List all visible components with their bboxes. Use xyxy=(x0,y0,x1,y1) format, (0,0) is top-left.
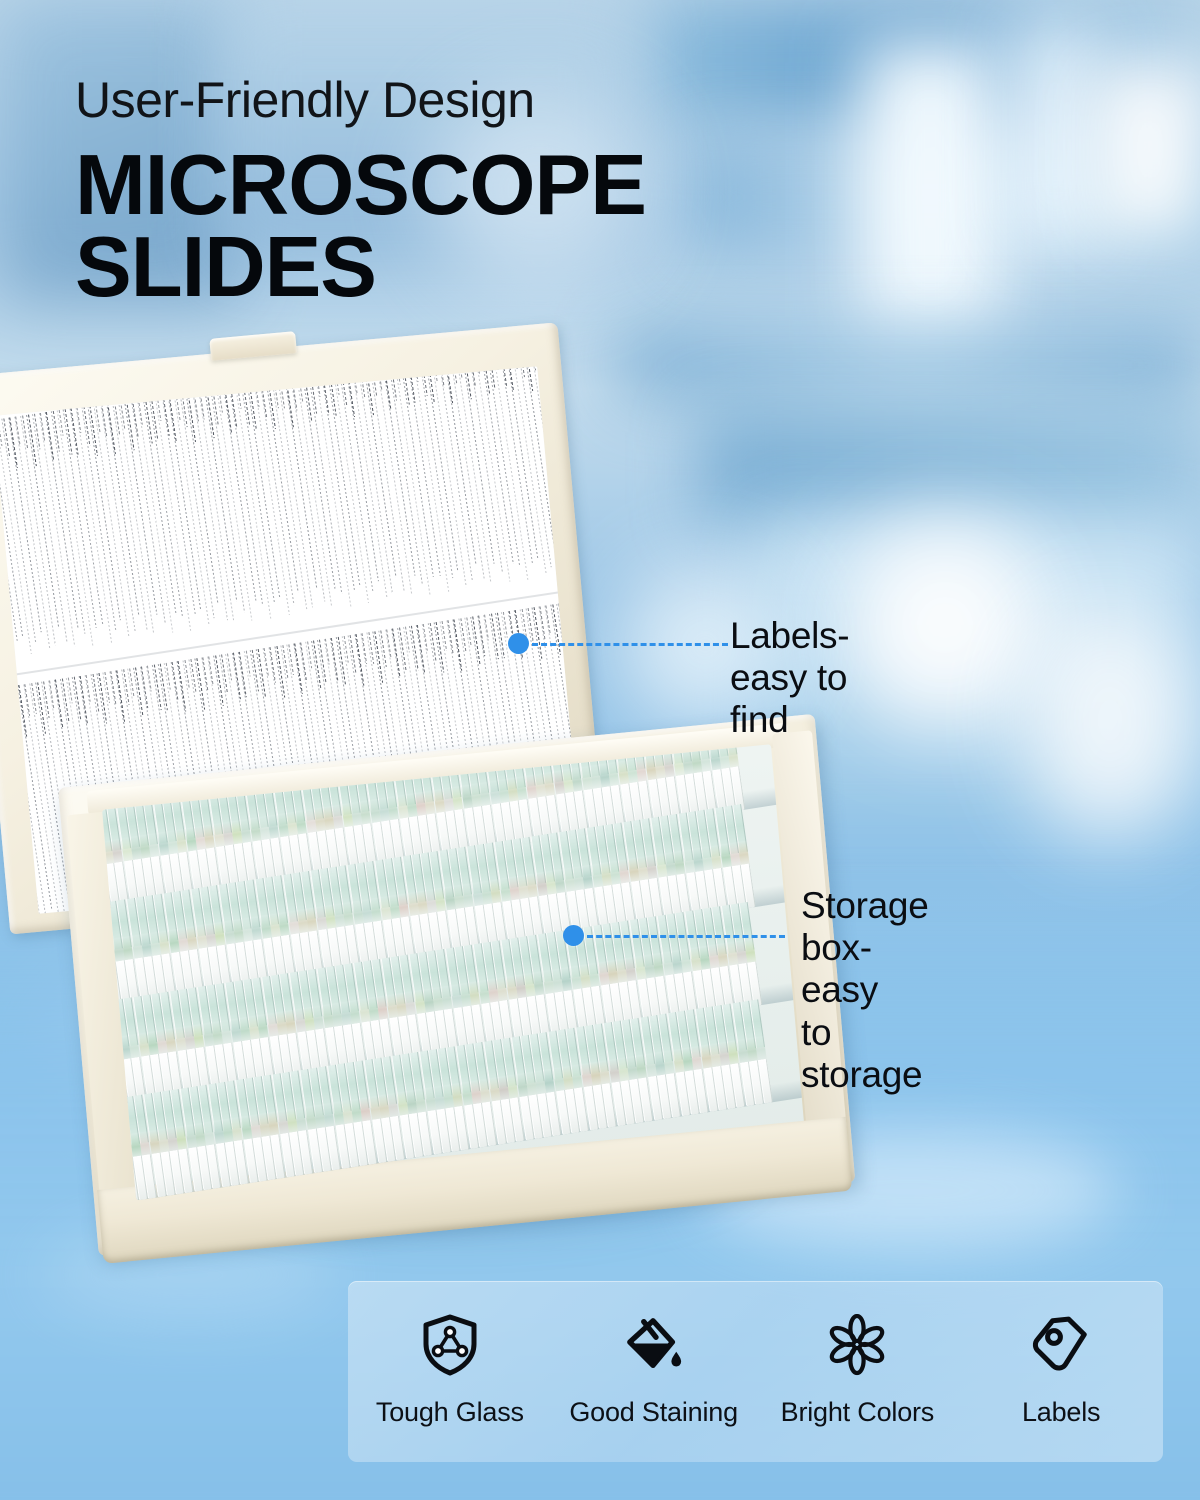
feature-labels: Labels xyxy=(959,1315,1163,1428)
feature-tough-glass: Tough Glass xyxy=(348,1315,552,1428)
flower-petals-icon xyxy=(827,1315,887,1375)
callout-leader-line-labels xyxy=(532,643,728,646)
feature-good-staining: Good Staining xyxy=(552,1315,756,1428)
paint-drop-icon xyxy=(624,1315,684,1375)
callout-label-text-storage: Storage box-easy to storage xyxy=(801,885,929,1096)
feature-label-labels: Labels xyxy=(1022,1397,1100,1428)
storage-box-base xyxy=(58,714,858,1286)
feature-label-tough-glass: Tough Glass xyxy=(376,1397,524,1428)
page-title: MICROSCOPE SLIDES xyxy=(75,145,646,310)
callout-dot-storage xyxy=(563,925,584,946)
feature-bright-colors: Bright Colors xyxy=(756,1315,960,1428)
price-tag-icon xyxy=(1031,1315,1091,1375)
product-banner: User-Friendly Design MICROSCOPE SLIDES L… xyxy=(0,0,1200,1500)
kicker-text: User-Friendly Design xyxy=(75,74,646,127)
headline-block: User-Friendly Design MICROSCOPE SLIDES xyxy=(75,74,646,309)
callout-leader-line-storage xyxy=(587,935,785,938)
feature-bar: Tough Glass Good Staining xyxy=(348,1281,1163,1462)
callout-dot-labels xyxy=(508,633,529,654)
product-image xyxy=(0,300,900,1290)
shield-molecule-icon xyxy=(420,1315,480,1375)
feature-label-good-staining: Good Staining xyxy=(569,1397,738,1428)
feature-label-bright-colors: Bright Colors xyxy=(781,1397,934,1428)
callout-label-text-labels: Labels-easy to find xyxy=(730,615,849,742)
